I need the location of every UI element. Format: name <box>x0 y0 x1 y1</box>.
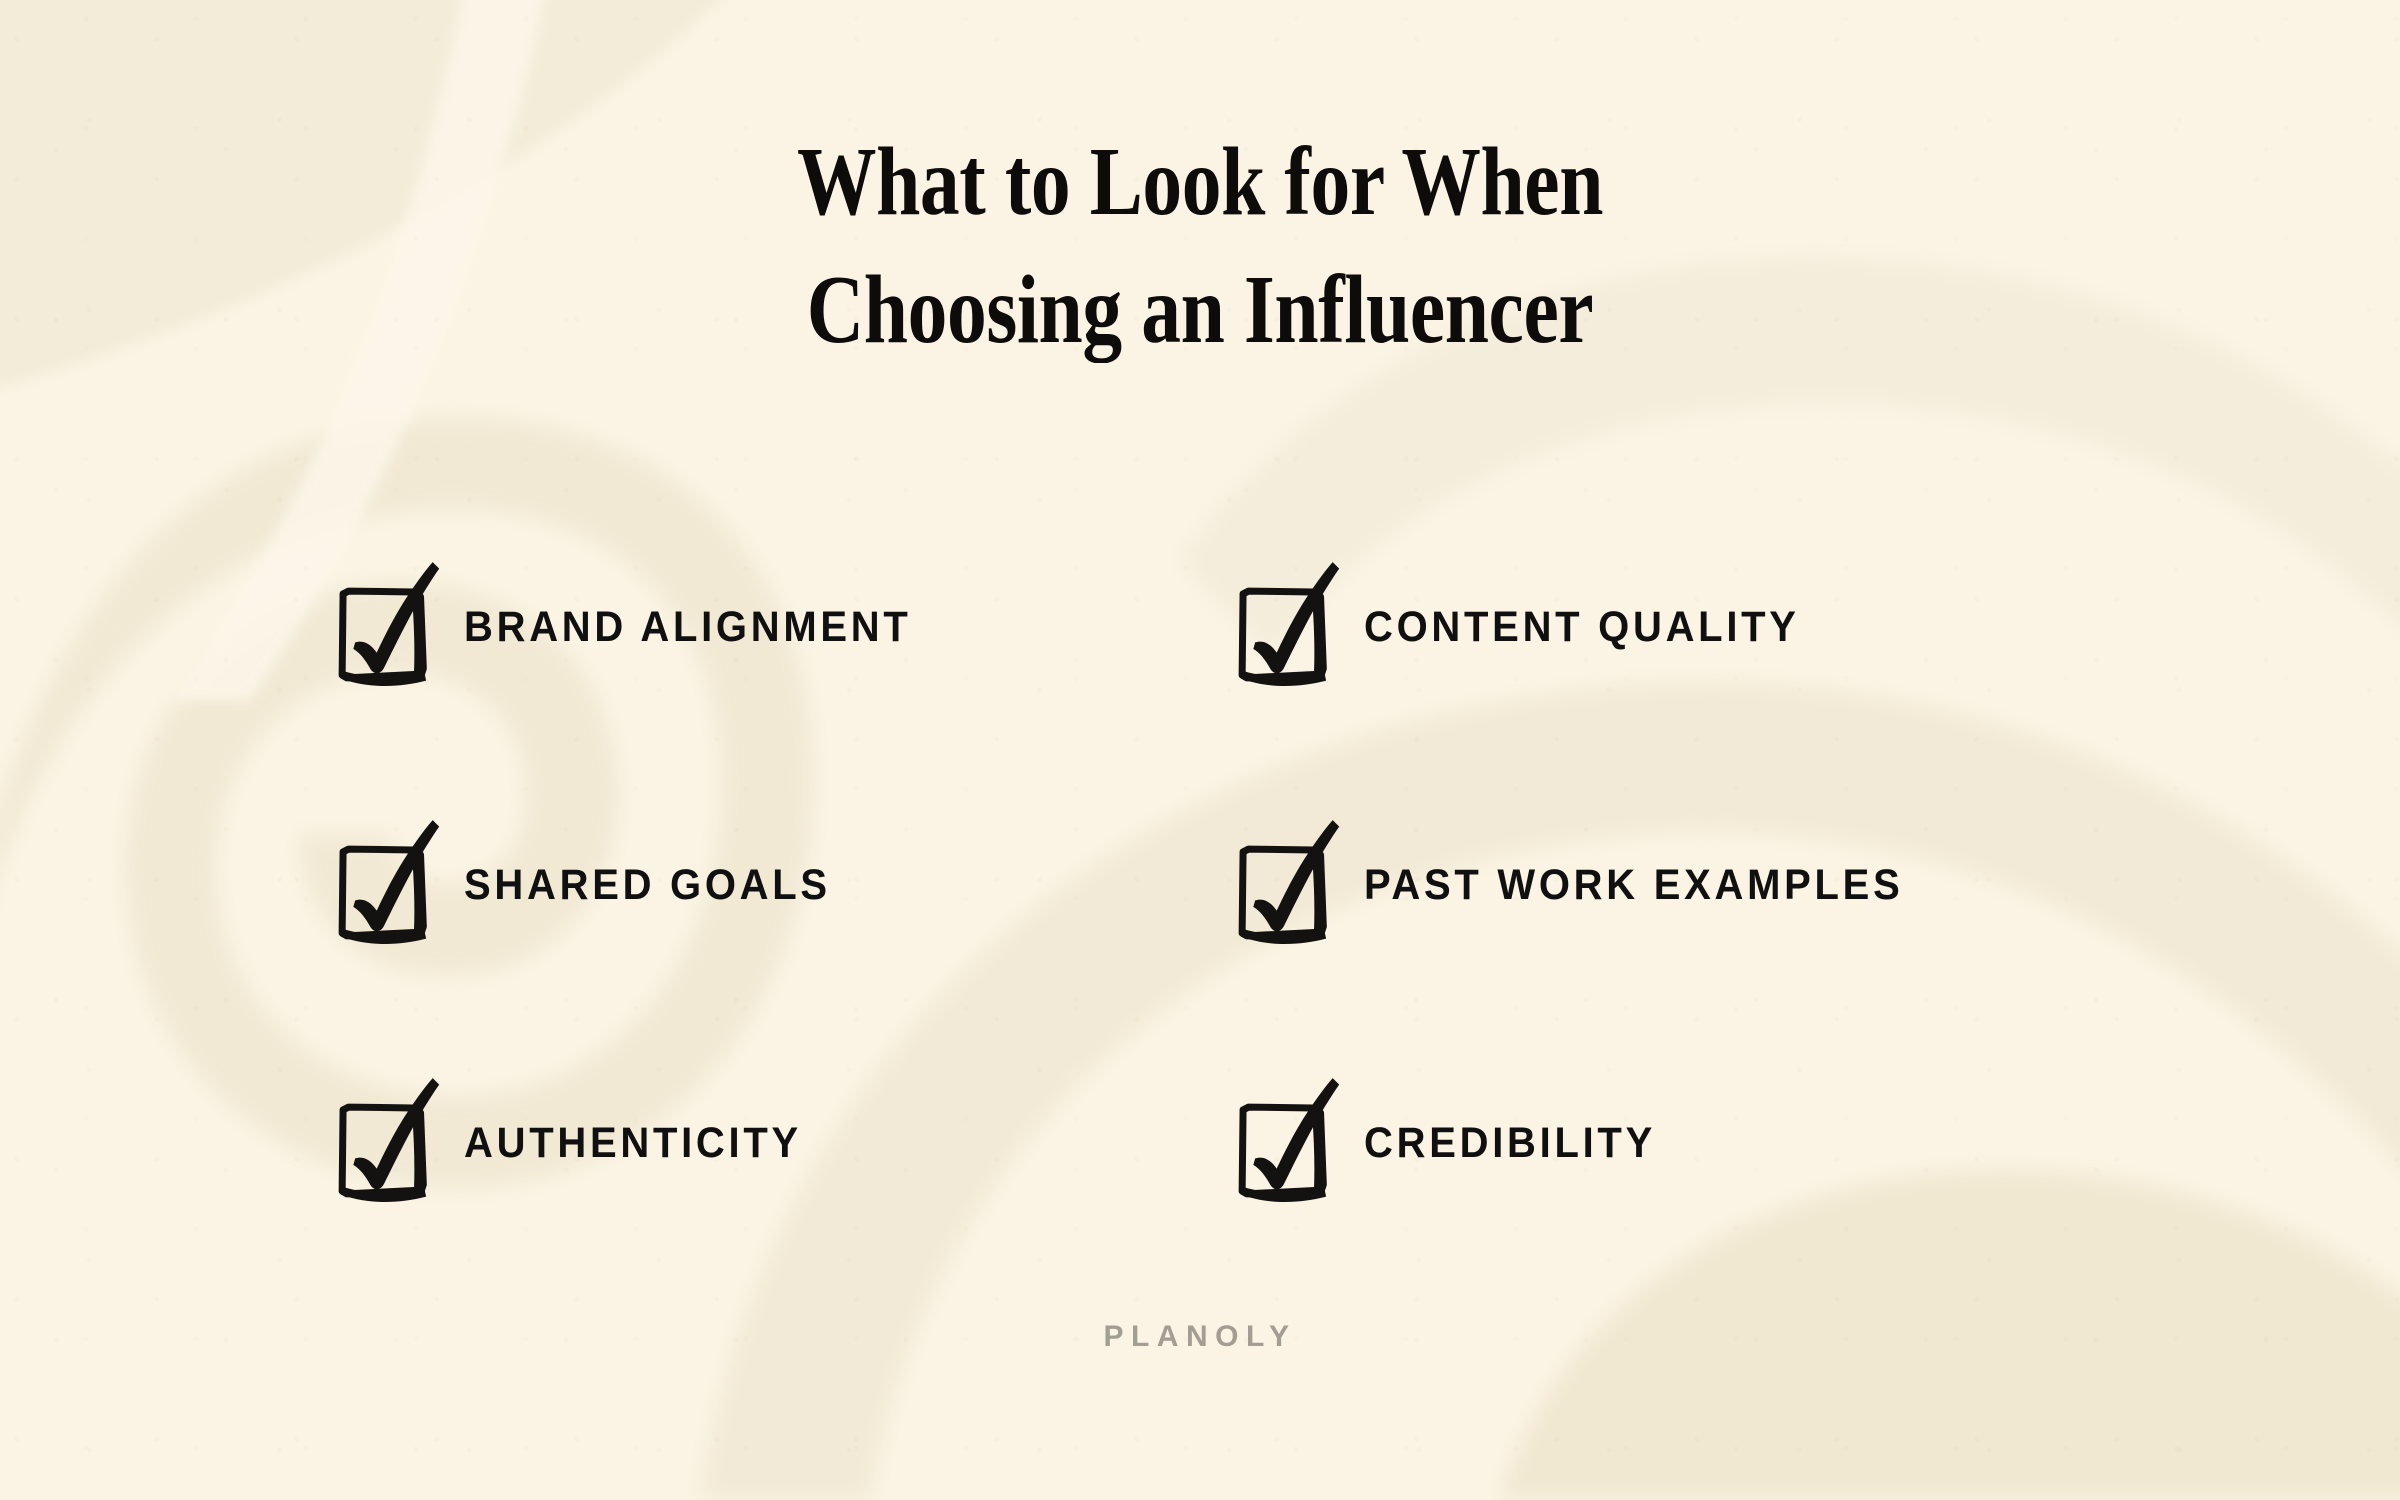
page-title: What to Look for When Choosing an Influe… <box>0 118 2400 374</box>
checked-checkbox-icon[interactable] <box>330 814 442 942</box>
checked-checkbox-icon[interactable] <box>330 556 442 684</box>
checked-checkbox-icon[interactable] <box>1230 556 1342 684</box>
list-item-label: PAST WORK EXAMPLES <box>1364 864 1903 907</box>
list-item[interactable]: SHARED GOALS <box>330 810 1030 960</box>
list-item-label: CONTENT QUALITY <box>1364 606 1800 649</box>
list-item[interactable]: CONTENT QUALITY <box>1230 552 2090 702</box>
checked-checkbox-icon[interactable] <box>330 1072 442 1200</box>
list-item-label: SHARED GOALS <box>464 864 831 907</box>
list-item[interactable]: AUTHENTICITY <box>330 1068 1030 1218</box>
list-item-label: AUTHENTICITY <box>464 1122 802 1165</box>
list-item-label: BRAND ALIGNMENT <box>464 606 912 649</box>
infographic-canvas: What to Look for When Choosing an Influe… <box>0 0 2400 1500</box>
title-line-2: Choosing an Influencer <box>216 246 2184 374</box>
checked-checkbox-icon[interactable] <box>1230 1072 1342 1200</box>
checklist: BRAND ALIGNMENT CONTENT QUALITY <box>330 552 2090 1326</box>
title-line-1: What to Look for When <box>216 118 2184 246</box>
list-item-label: CREDIBILITY <box>1364 1122 1656 1165</box>
list-item[interactable]: PAST WORK EXAMPLES <box>1230 810 2090 960</box>
list-item[interactable]: CREDIBILITY <box>1230 1068 2090 1218</box>
brand-wordmark: PLANOLY <box>0 1320 2400 1354</box>
list-item[interactable]: BRAND ALIGNMENT <box>330 552 1030 702</box>
checked-checkbox-icon[interactable] <box>1230 814 1342 942</box>
